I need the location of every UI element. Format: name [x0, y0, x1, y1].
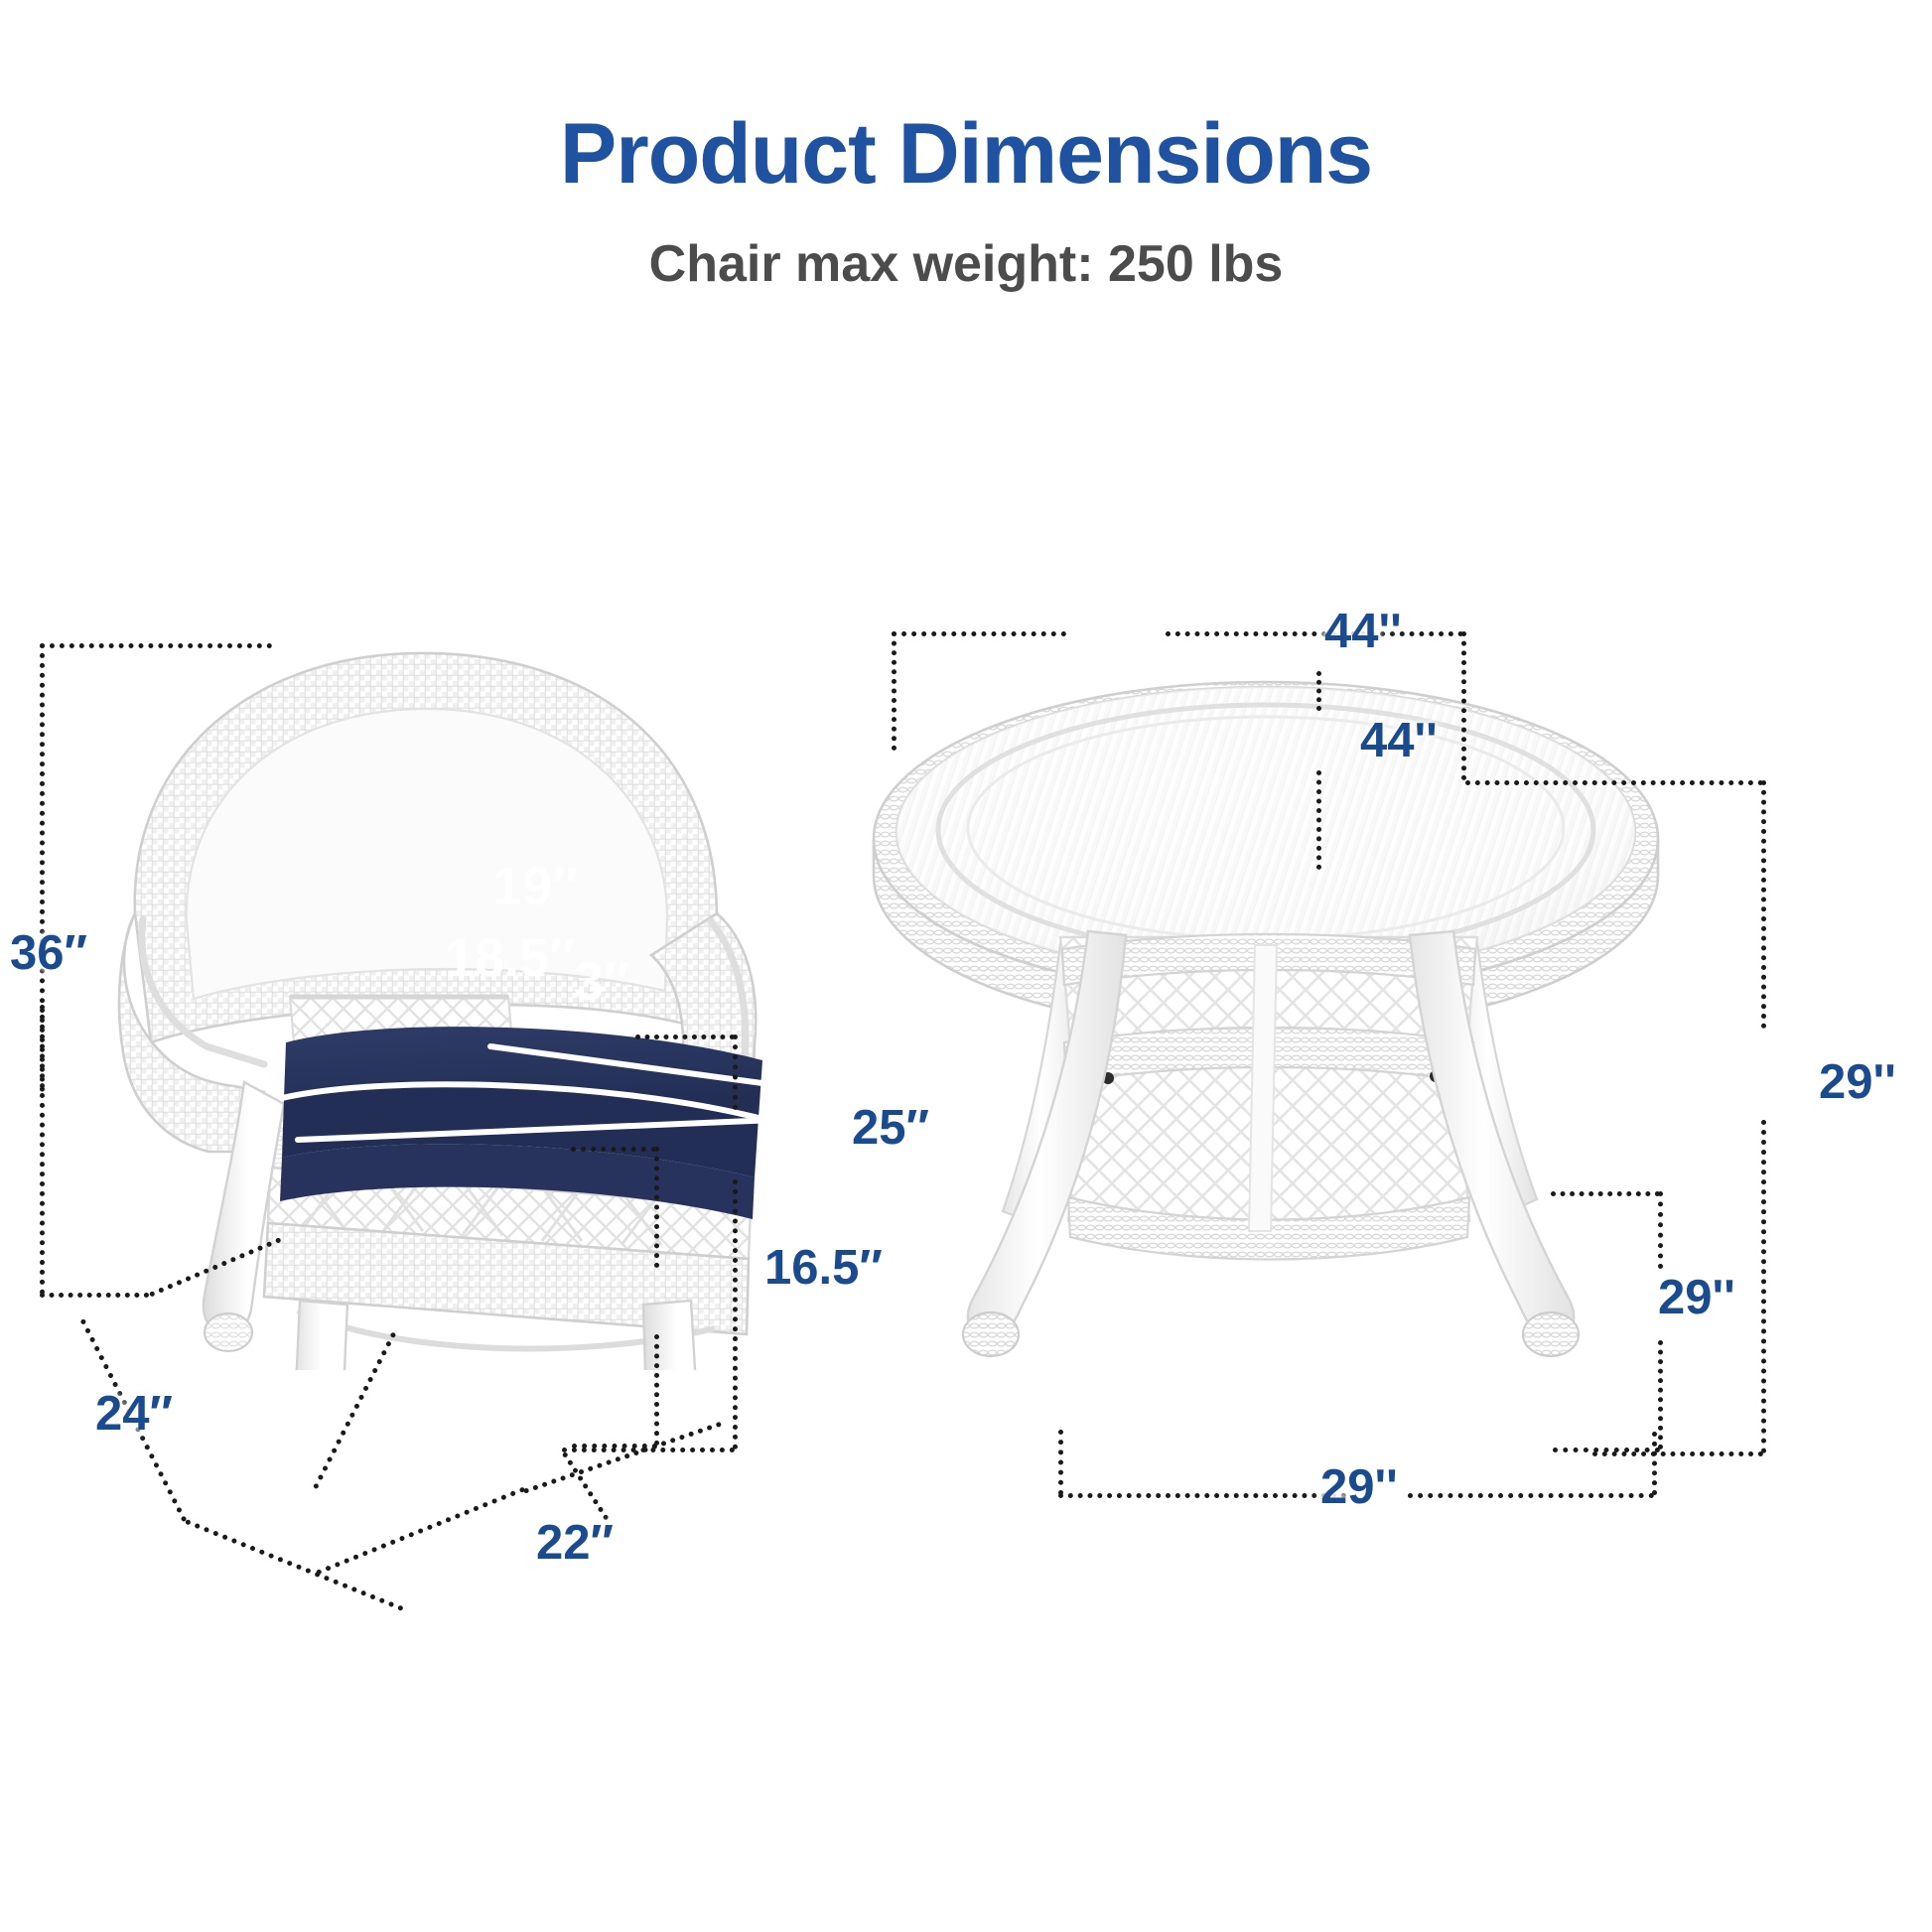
guide-table-bw-b	[1408, 1493, 1654, 1498]
guide-chair-arm-right2	[733, 1179, 738, 1449]
guide-table-base-top	[1551, 1191, 1660, 1196]
dim-chair-arm-height: 25″	[852, 1104, 929, 1153]
dim-chair-depth: 24″	[95, 1390, 173, 1439]
guide-table-base-bot	[1553, 1448, 1660, 1452]
dim-chair-cushion-thickness: 3″	[574, 955, 629, 1009]
guide-table-h-right-b	[1761, 1120, 1766, 1453]
guide-table-h-right-a	[1761, 780, 1766, 1029]
dim-table-base-width: 29''	[1320, 1463, 1398, 1512]
guide-chair-arm-top	[635, 1035, 735, 1039]
guide-table-dia-left	[892, 631, 897, 751]
guide-chair-arm-right	[733, 1035, 738, 1110]
guide-table-mid-b	[1316, 770, 1321, 870]
guide-table-h-top	[1465, 780, 1763, 785]
guide-chair-width-a	[316, 1486, 525, 1575]
chair-leg-front-left	[290, 1301, 347, 1370]
chair-illustration	[60, 616, 814, 1370]
guide-table-dia-right	[1461, 631, 1466, 780]
guide-chair-height-top	[40, 643, 272, 648]
guide-table-base-right	[1658, 1191, 1663, 1269]
product-dimensions-diagram: Product Dimensions Chair max weight: 250…	[0, 0, 1932, 1932]
guide-chair-seat-right	[654, 1147, 659, 1268]
dim-chair-width: 22″	[536, 1519, 614, 1568]
guide-chair-seat-right2	[654, 1334, 659, 1446]
guide-chair-width-d	[523, 1422, 722, 1494]
guide-table-dia-top-b	[1166, 631, 1463, 636]
guide-chair-seat-top	[571, 1147, 656, 1152]
dim-chair-height: 36″	[10, 929, 87, 978]
page-title: Product Dimensions	[0, 111, 1932, 197]
dim-table-diameter-top: 44''	[1324, 608, 1402, 656]
dim-table-diameter-mid: 44''	[1360, 717, 1438, 765]
guide-chair-width-b	[185, 1519, 404, 1611]
guide-chair-height-bottom	[40, 1293, 149, 1298]
dim-table-height: 29''	[1819, 1058, 1896, 1107]
guide-table-bw-left	[1058, 1430, 1063, 1495]
dim-chair-seat-width: 19″	[492, 860, 578, 913]
guide-table-bw-a	[1058, 1493, 1346, 1498]
dim-table-base-height: 29''	[1658, 1274, 1735, 1322]
dim-chair-seat-height: 16.5″	[764, 1244, 883, 1293]
chair-body	[119, 653, 756, 1370]
guide-table-mid-a	[1316, 671, 1321, 711]
cushion-thickness-tick	[760, 1104, 766, 1164]
page-subtitle: Chair max weight: 250 lbs	[0, 238, 1932, 290]
table-illustration	[854, 616, 1678, 1440]
guide-table-bw-right	[1652, 1432, 1657, 1495]
dim-chair-seat-depth: 18.5″	[445, 931, 575, 985]
guide-table-dia-top-a	[892, 631, 1066, 636]
guide-table-base-right2	[1658, 1340, 1663, 1449]
guide-chair-height-left-b	[40, 1005, 45, 1295]
